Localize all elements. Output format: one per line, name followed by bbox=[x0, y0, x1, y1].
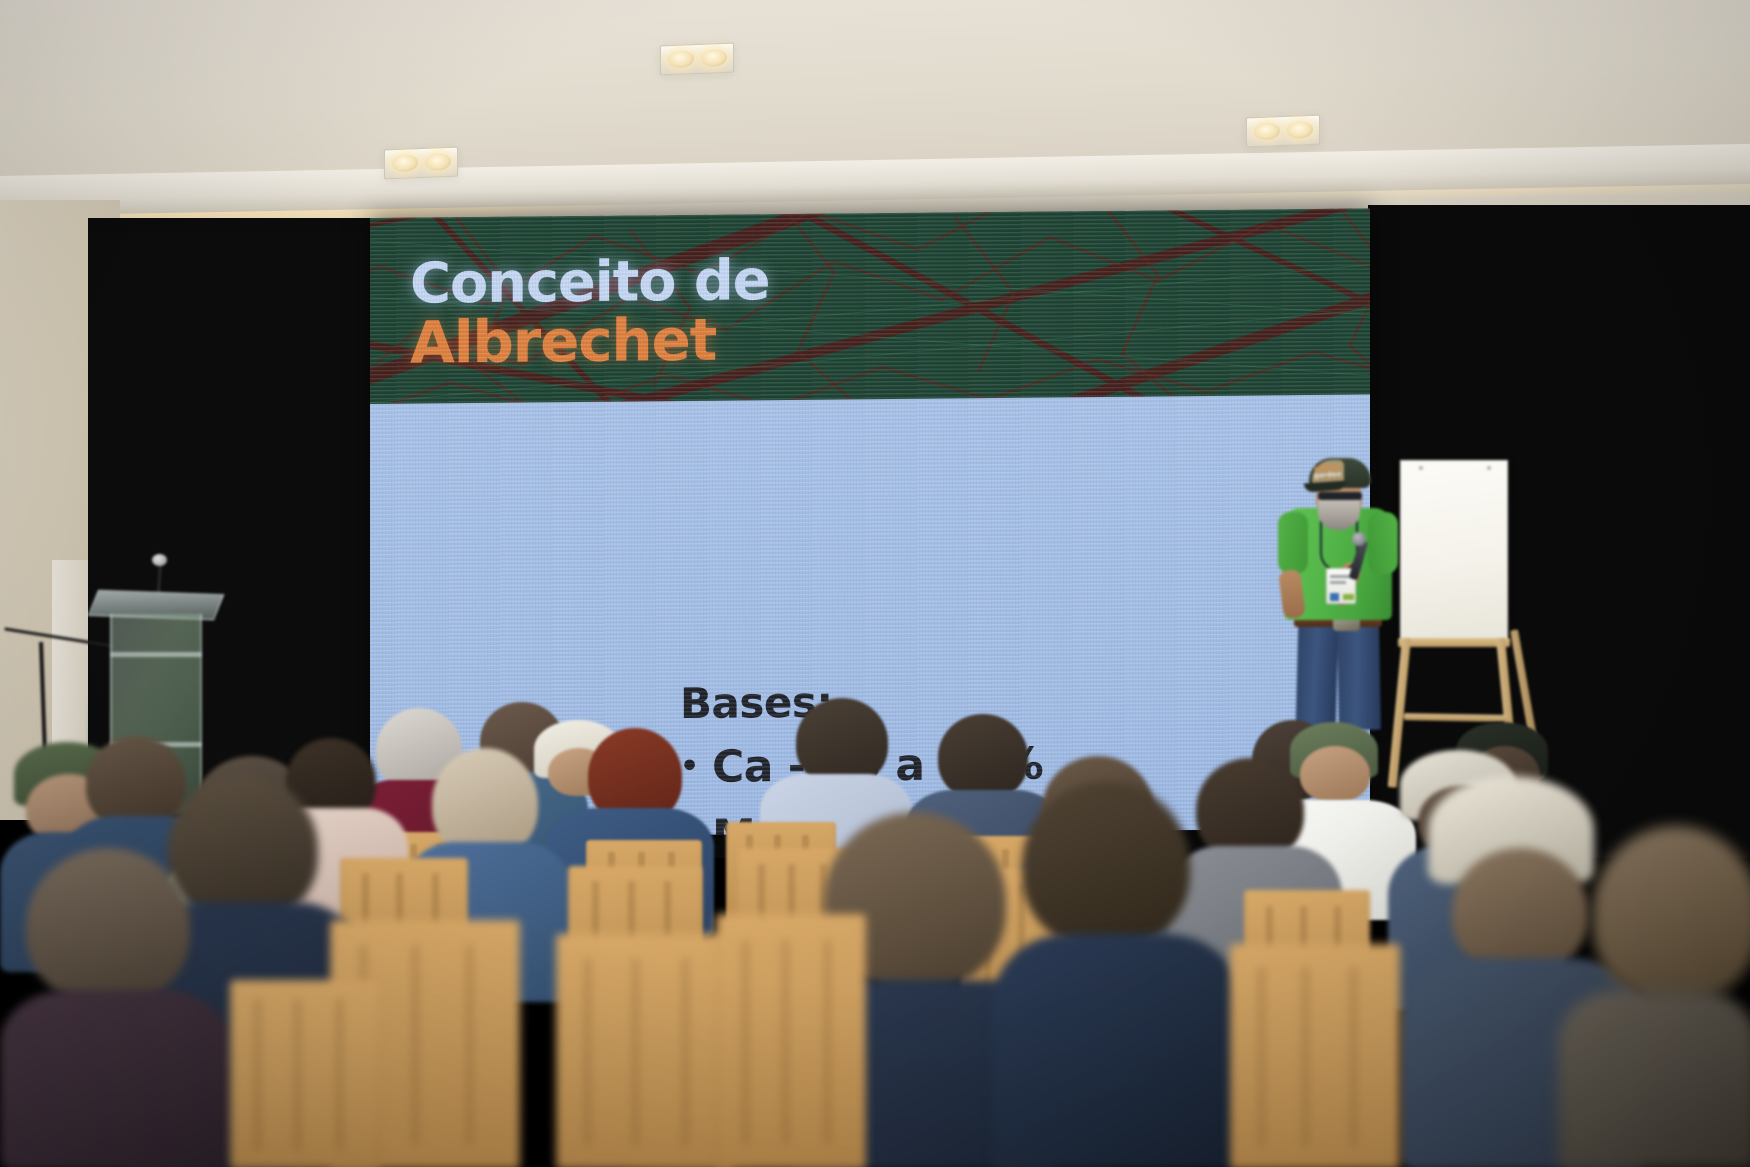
microphone-icon bbox=[152, 554, 167, 566]
audience bbox=[0, 690, 1750, 1167]
ceiling-downlight-icon bbox=[660, 43, 734, 76]
slide-title: Conceito de Albrechet bbox=[410, 254, 769, 371]
audience-torso bbox=[1558, 990, 1750, 1167]
chair bbox=[230, 980, 380, 1167]
presenter-beard bbox=[1318, 496, 1360, 530]
eyeglasses-icon bbox=[1318, 492, 1362, 500]
chair bbox=[1230, 944, 1400, 1167]
easel-tray bbox=[1398, 638, 1510, 647]
audience-head bbox=[1022, 782, 1190, 948]
audience-head bbox=[796, 698, 888, 786]
flipchart-clip bbox=[1419, 466, 1423, 470]
audience-torso bbox=[992, 934, 1242, 1167]
chair bbox=[556, 934, 732, 1167]
audience-head bbox=[1592, 826, 1750, 1002]
presentation-photo-scene: Conceito de Albrechet Bases: • Ca - 55 a… bbox=[0, 0, 1750, 1167]
cap-brand-text: nutree garden bbox=[1314, 463, 1371, 480]
lectern-band bbox=[110, 652, 202, 657]
presenter: nutree garden bbox=[1276, 444, 1400, 730]
flipchart-clip bbox=[1487, 466, 1491, 470]
audience-head bbox=[938, 714, 1028, 800]
ceiling-downlight-icon bbox=[1246, 115, 1320, 148]
chair bbox=[716, 914, 866, 1167]
flipchart-pad bbox=[1400, 460, 1508, 642]
slide-title-line-1: Conceito de bbox=[410, 254, 769, 311]
audience-torso bbox=[0, 990, 230, 1167]
audience-head bbox=[168, 776, 318, 922]
cap-brand-line-2: garden bbox=[1314, 470, 1342, 479]
ceiling-downlight-icon bbox=[384, 147, 458, 180]
slide-header-band: Conceito de Albrechet bbox=[370, 208, 1370, 404]
microphone-capsule bbox=[1352, 532, 1366, 546]
presenter-sleeve bbox=[1368, 512, 1398, 574]
audience-head bbox=[26, 848, 190, 1004]
slide-title-line-2: Albrechet bbox=[410, 312, 769, 371]
audience-head bbox=[1452, 848, 1588, 974]
audience-head bbox=[1300, 746, 1370, 802]
presenter-sleeve bbox=[1278, 512, 1308, 574]
